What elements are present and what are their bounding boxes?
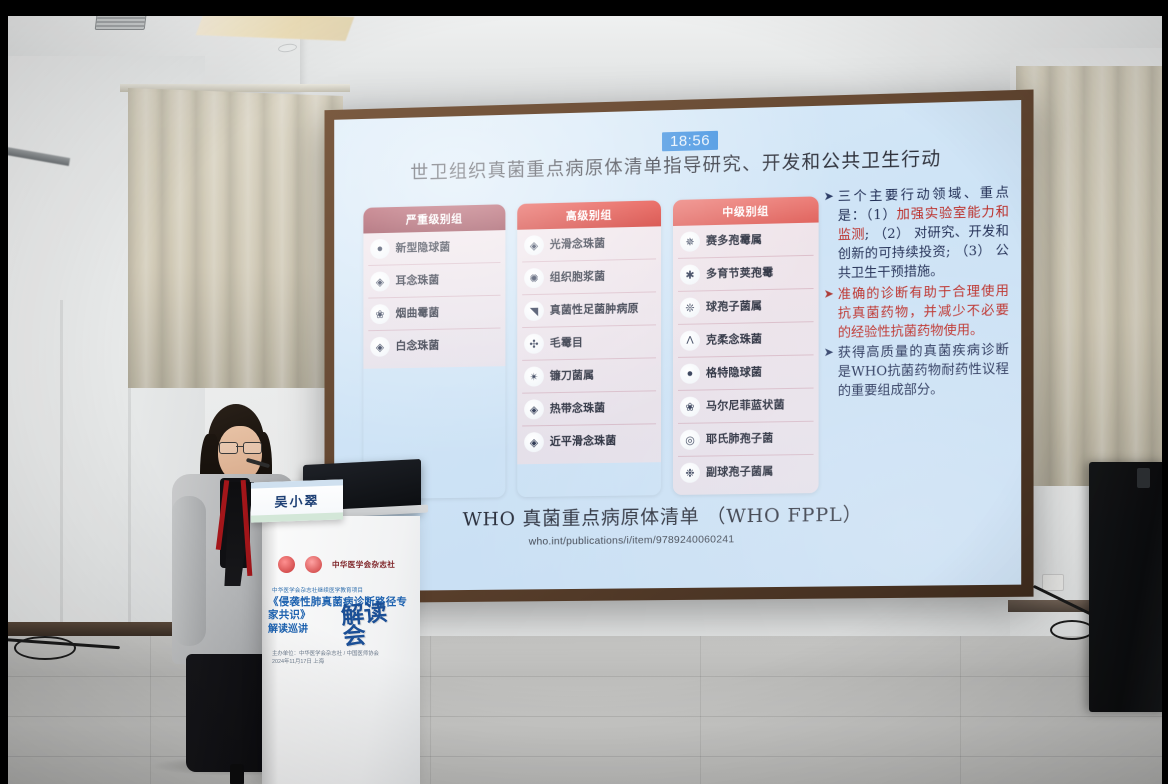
- curtain-right: [1016, 66, 1166, 486]
- item-label: 近平滑念珠菌: [550, 435, 617, 449]
- item-label: 耳念珠菌: [396, 274, 440, 287]
- bullet-item: ➤ 准确的诊断有助于合理使用抗真菌药物，并减少不必要的经验性抗菌药物使用。: [824, 281, 1009, 343]
- letterbox-left: [0, 0, 8, 784]
- yeast-cells-icon: ◈: [524, 432, 544, 452]
- list-item: ❀ 烟曲霉菌: [368, 296, 500, 331]
- list-item: ✴ 镰刀菌属: [522, 358, 656, 393]
- item-label: 格特隐球菌: [706, 366, 762, 380]
- equipment-panel: [1089, 462, 1168, 712]
- yeast-cells-icon: ◈: [370, 271, 390, 291]
- speaker-name-card: 吴小翠: [251, 479, 343, 522]
- talaromyces-icon: ❀: [680, 397, 700, 417]
- podium-meta: 主办单位：中华医学会杂志社 / 中国医师协会 2024年11月17日 上海: [272, 650, 379, 666]
- bullet-item: ➤ 获得高质量的真菌疾病诊断是WHO抗菌药物耐药性议程的重要组成部分。: [824, 340, 1009, 401]
- mycetoma-icon: ◥: [524, 301, 544, 321]
- item-label: 组织胞浆菌: [550, 270, 605, 284]
- yeast-cells-icon: ◈: [370, 337, 390, 357]
- list-item: ◥ 真菌性足菌肿病原: [522, 292, 656, 328]
- item-label: 耶氏肺孢子菌: [706, 432, 773, 446]
- column-medium: 中级别组 ✵ 赛多孢霉属 ✱ 多育节荚孢霉 ❊: [673, 196, 819, 495]
- arrow-bullet-icon: ➤: [824, 188, 835, 284]
- slide-caption: WHO 真菌重点病原体清单 （WHO FPPL）: [356, 498, 974, 533]
- column-body-medium: ✵ 赛多孢霉属 ✱ 多育节荚孢霉 ❊ 球孢子菌属: [673, 223, 819, 496]
- list-item: ❉ 副球孢子菌属: [678, 455, 814, 489]
- bullet-text: 三个主要行动领域、重点是：（1）加强实验室能力和监测; （2） 对研究、开发和创…: [838, 183, 1009, 284]
- bullet-item: ➤ 三个主要行动领域、重点是：（1）加强实验室能力和监测; （2） 对研究、开发…: [824, 183, 1009, 284]
- item-label: 球孢子菌属: [706, 300, 762, 314]
- item-label: 光滑念珠菌: [550, 237, 605, 251]
- yeast-cells-icon: ◈: [524, 235, 544, 255]
- podium-calligraphy: 解读 会: [334, 602, 389, 649]
- item-label: 多育节荚孢霉: [706, 266, 773, 280]
- list-item: ◎ 耶氏肺孢子菌: [678, 422, 814, 457]
- list-item: ◈ 热带念珠菌: [522, 391, 656, 426]
- mold-spore-icon: ❀: [370, 304, 390, 324]
- cryptococcus-icon: ●: [680, 364, 700, 384]
- power-outlet-icon: [1042, 574, 1064, 591]
- item-label: 镰刀菌属: [550, 369, 594, 382]
- org-logo-text: 中华医学会杂志社: [332, 559, 395, 570]
- item-label: 白念珠菌: [396, 339, 440, 352]
- mucorales-icon: ✣: [524, 334, 544, 354]
- list-item: ◈ 耳念珠菌: [368, 263, 500, 299]
- floor-cable-coil: [1050, 620, 1094, 640]
- yeast-cells-icon: ◈: [524, 399, 544, 419]
- coccidioides-icon: ❊: [680, 297, 700, 317]
- list-item: ● 新型隐球菌: [368, 230, 500, 266]
- column-body-high: ◈ 光滑念珠菌 ✺ 组织胞浆菌 ◥ 真菌性足菌肿病原: [517, 226, 661, 464]
- list-item: ◈ 近平滑念珠菌: [522, 424, 656, 458]
- column-critical: 严重级别组 ● 新型隐球菌 ◈ 耳念珠菌 ❀: [363, 204, 505, 499]
- speaker-leg: [230, 764, 244, 784]
- krusei-icon: Λ: [680, 330, 700, 350]
- column-body-critical: ● 新型隐球菌 ◈ 耳念珠菌 ❀ 烟曲霉菌: [363, 230, 505, 369]
- lomentospora-icon: ✱: [680, 264, 700, 284]
- fungus-cluster-icon: ●: [370, 239, 390, 259]
- list-item: ● 格特隐球菌: [678, 355, 814, 391]
- speaker-name: 吴小翠: [251, 489, 343, 511]
- column-header-medium: 中级别组: [673, 196, 819, 226]
- curtain-left: [128, 88, 343, 388]
- scedosporium-icon: ✵: [680, 231, 700, 251]
- item-label: 马尔尼菲蓝状菌: [706, 399, 785, 413]
- podium-logos: 中华医学会杂志社: [278, 556, 395, 573]
- glasses-icon: [219, 442, 262, 452]
- item-label: 赛多孢霉属: [706, 234, 762, 248]
- podium-meta-line2: 2024年11月17日 上海: [272, 658, 379, 666]
- org-logo-icon: [278, 556, 295, 573]
- item-label: 热带念珠菌: [550, 402, 605, 416]
- equipment-panel-handle: [1137, 468, 1150, 488]
- list-item: ✣ 毛霉目: [522, 325, 656, 361]
- letterbox-right: [1162, 0, 1168, 784]
- list-item: ❀ 马尔尼菲蓝状菌: [678, 389, 814, 424]
- presentation-photo: 18:56 世卫组织真菌重点病原体清单指导研究、开发和公共卫生行动 严重级别组 …: [0, 0, 1168, 784]
- projection-screen-frame: 18:56 世卫组织真菌重点病原体清单指导研究、开发和公共卫生行动 严重级别组 …: [325, 89, 1034, 603]
- list-item: Λ 克柔念珠菌: [678, 322, 814, 358]
- column-high: 高级别组 ◈ 光滑念珠菌 ✺ 组织胞浆菌 ◥: [517, 200, 661, 497]
- paracoccidioides-icon: ❉: [680, 463, 700, 483]
- item-label: 副球孢子菌属: [706, 465, 773, 479]
- item-label: 毛霉目: [550, 336, 583, 349]
- fusarium-icon: ✴: [524, 366, 544, 386]
- list-item: ✱ 多育节荚孢霉: [678, 256, 814, 292]
- podium-project-line: 中华医学会杂志社继续医学教育项目: [272, 586, 404, 594]
- column-header-high: 高级别组: [517, 200, 661, 229]
- column-header-critical: 严重级别组: [363, 204, 505, 233]
- wall-seam: [60, 300, 63, 640]
- list-item: ◈ 白念珠菌: [368, 329, 500, 363]
- bullet-text: 准确的诊断有助于合理使用抗真菌药物，并减少不必要的经验性抗菌药物使用。: [838, 281, 1009, 342]
- slide-source-url: who.int/publications/i/item/978924006024…: [356, 531, 913, 549]
- list-item: ✺ 组织胞浆菌: [522, 259, 656, 295]
- item-label: 烟曲霉菌: [396, 307, 440, 320]
- projection-screen: 18:56 世卫组织真菌重点病原体清单指导研究、开发和公共卫生行动 严重级别组 …: [334, 100, 1021, 591]
- meeting-room: 18:56 世卫组织真菌重点病原体清单指导研究、开发和公共卫生行动 严重级别组 …: [0, 0, 1168, 784]
- slide-bullets: ➤ 三个主要行动领域、重点是：（1）加强实验室能力和监测; （2） 对研究、开发…: [824, 183, 1009, 402]
- podium-meta-line1: 主办单位：中华医学会杂志社 / 中国医师协会: [272, 650, 379, 658]
- arrow-bullet-icon: ➤: [824, 344, 835, 402]
- histoplasma-icon: ✺: [524, 268, 544, 288]
- arrow-bullet-icon: ➤: [824, 285, 835, 343]
- speaker-arm: [172, 496, 206, 646]
- floor-cable-coil: [14, 636, 76, 660]
- list-item: ✵ 赛多孢霉属: [678, 223, 814, 259]
- item-label: 真菌性足菌肿病原: [550, 302, 639, 316]
- timer-badge: 18:56: [662, 131, 718, 152]
- list-item: ❊ 球孢子菌属: [678, 289, 814, 325]
- pneumocystis-icon: ◎: [680, 430, 700, 450]
- podium-banner-subtitle: 解读巡讲: [268, 620, 308, 635]
- priority-columns: 严重级别组 ● 新型隐球菌 ◈ 耳念珠菌 ❀: [363, 196, 818, 499]
- list-item: ◈ 光滑念珠菌: [522, 226, 656, 262]
- bullet-text: 获得高质量的真菌疾病诊断是WHO抗菌药物耐药性议程的重要组成部分。: [838, 340, 1009, 401]
- letterbox-top: [0, 0, 1168, 16]
- item-label: 克柔念珠菌: [706, 333, 762, 347]
- org-logo-secondary-icon: [305, 556, 322, 573]
- item-label: 新型隐球菌: [396, 241, 451, 255]
